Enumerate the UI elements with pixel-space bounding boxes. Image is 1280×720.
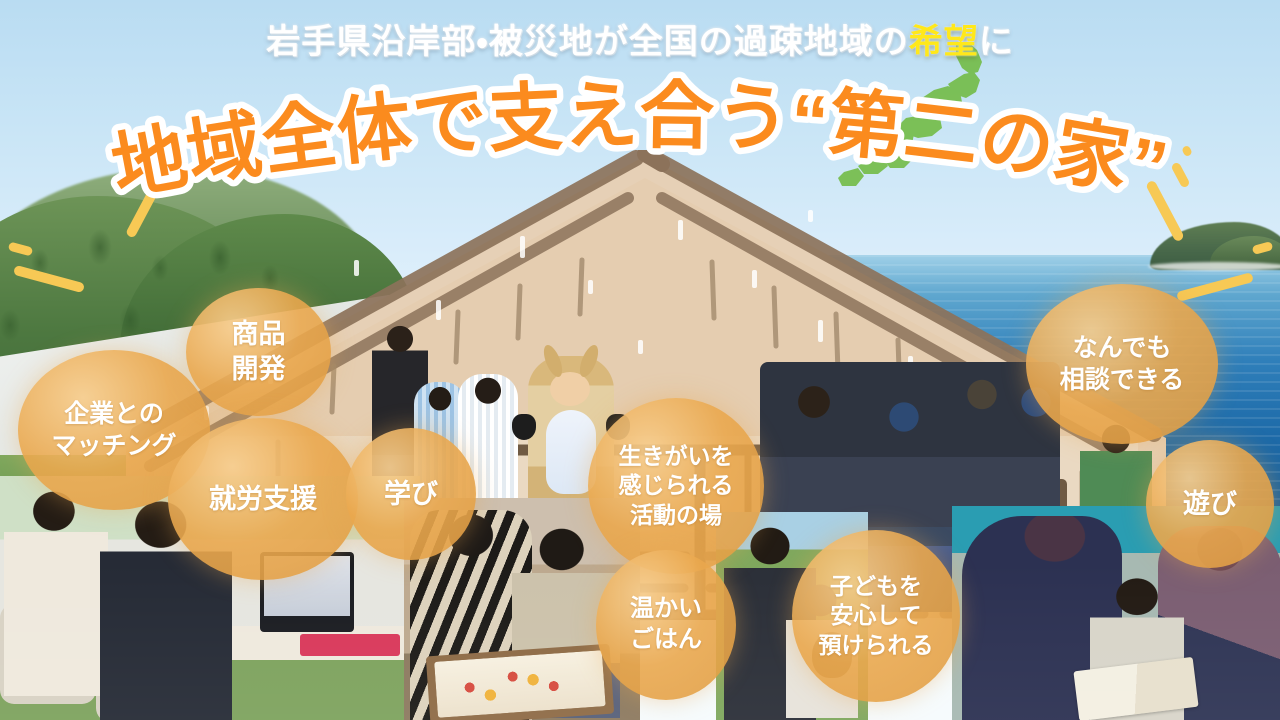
headline-top: 岩手県沿岸部・被災地が全国の過疎地域の希望に xyxy=(0,22,1280,63)
bubble-warm-meal: 温かい ごはん xyxy=(596,550,736,700)
cake-tray xyxy=(426,644,614,720)
office-red-folder xyxy=(300,634,400,656)
bubble-consult: なんでも 相談できる xyxy=(1026,284,1218,444)
mascot-hand-left xyxy=(512,414,536,440)
bubble-purpose: 生きがいを 感じられる 活動の場 xyxy=(588,398,764,574)
bubble-play: 遊び xyxy=(1146,440,1274,568)
bubble-learning: 学び xyxy=(346,428,476,560)
bubble-childcare: 子どもを 安心して 預けられる xyxy=(792,530,960,702)
poster-root: 岩手県沿岸部・被災地が全国の過疎地域の希望に 地域全体で支え合う“第二の家” 地… xyxy=(0,0,1280,720)
bubble-product: 商品 開発 xyxy=(186,288,331,416)
office-woman-1 xyxy=(4,486,108,696)
headline-top-before: 岩手県沿岸部・被災地が全国の過疎地域の xyxy=(266,23,909,61)
headline-top-highlight: 希望 xyxy=(909,23,979,61)
bubble-work: 就労支援 xyxy=(168,418,358,580)
headline-top-after: に xyxy=(979,23,1014,61)
